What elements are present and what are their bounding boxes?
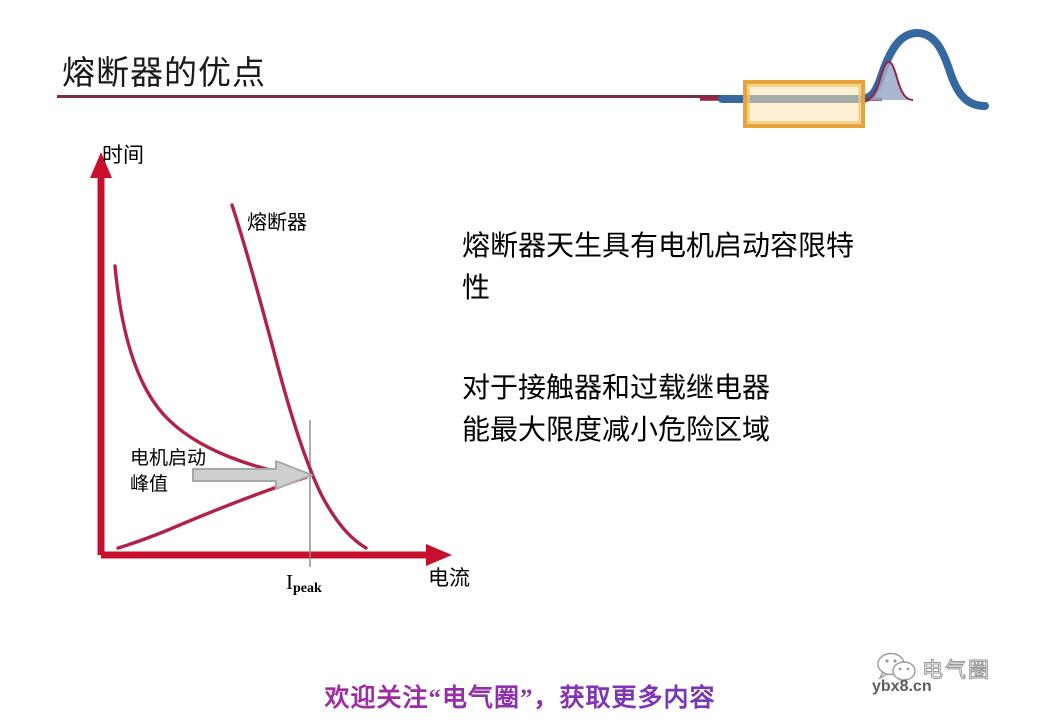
watermark: 电气圈 ybx8.cn <box>876 652 1036 714</box>
body-paragraph-2-line-1: 对于接触器和过载继电器 <box>462 368 962 410</box>
watermark-url: ybx8.cn <box>872 678 932 696</box>
slide-canvas: 熔断器的优点 <box>0 0 1040 720</box>
ipeak-symbol: I <box>286 570 293 594</box>
body-paragraph-1-line-2: 性 <box>462 268 962 310</box>
page-title: 熔断器的优点 <box>62 54 266 94</box>
motor-peak-label-line-2: 峰值 <box>130 474 168 495</box>
ipeak-subscript: peak <box>293 581 322 596</box>
motor-start-curve <box>115 266 307 548</box>
chart-y-axis <box>90 152 112 555</box>
chart-x-axis-label: 电流 <box>428 562 470 592</box>
motor-peak-label: 电机启动峰值 <box>130 446 206 498</box>
body-text-block: 熔断器天生具有电机启动容限特 性 对于接触器和过载继电器 能最大限度减小危险区域 <box>462 226 962 452</box>
fuse-curve-label: 熔断器 <box>247 206 307 235</box>
time-current-chart <box>60 130 490 610</box>
motor-peak-label-line-1: 电机启动 <box>130 448 206 469</box>
chart-x-axis <box>101 544 452 566</box>
ipeak-marker-label: Ipeak <box>286 570 322 597</box>
watermark-brand: 电气圈 <box>922 654 991 684</box>
deco-orange-box <box>745 82 863 126</box>
body-paragraph-1-line-1: 熔断器天生具有电机启动容限特 <box>462 226 962 268</box>
chart-y-axis-label: 时间 <box>102 139 144 169</box>
body-paragraph-2-line-2: 能最大限度减小危险区域 <box>462 410 962 452</box>
top-right-waveform-graphic <box>700 18 1040 128</box>
body-paragraph-2: 对于接触器和过载继电器 能最大限度减小危险区域 <box>462 368 962 452</box>
body-paragraph-1: 熔断器天生具有电机启动容限特 性 <box>462 226 962 310</box>
title-divider <box>57 95 722 98</box>
